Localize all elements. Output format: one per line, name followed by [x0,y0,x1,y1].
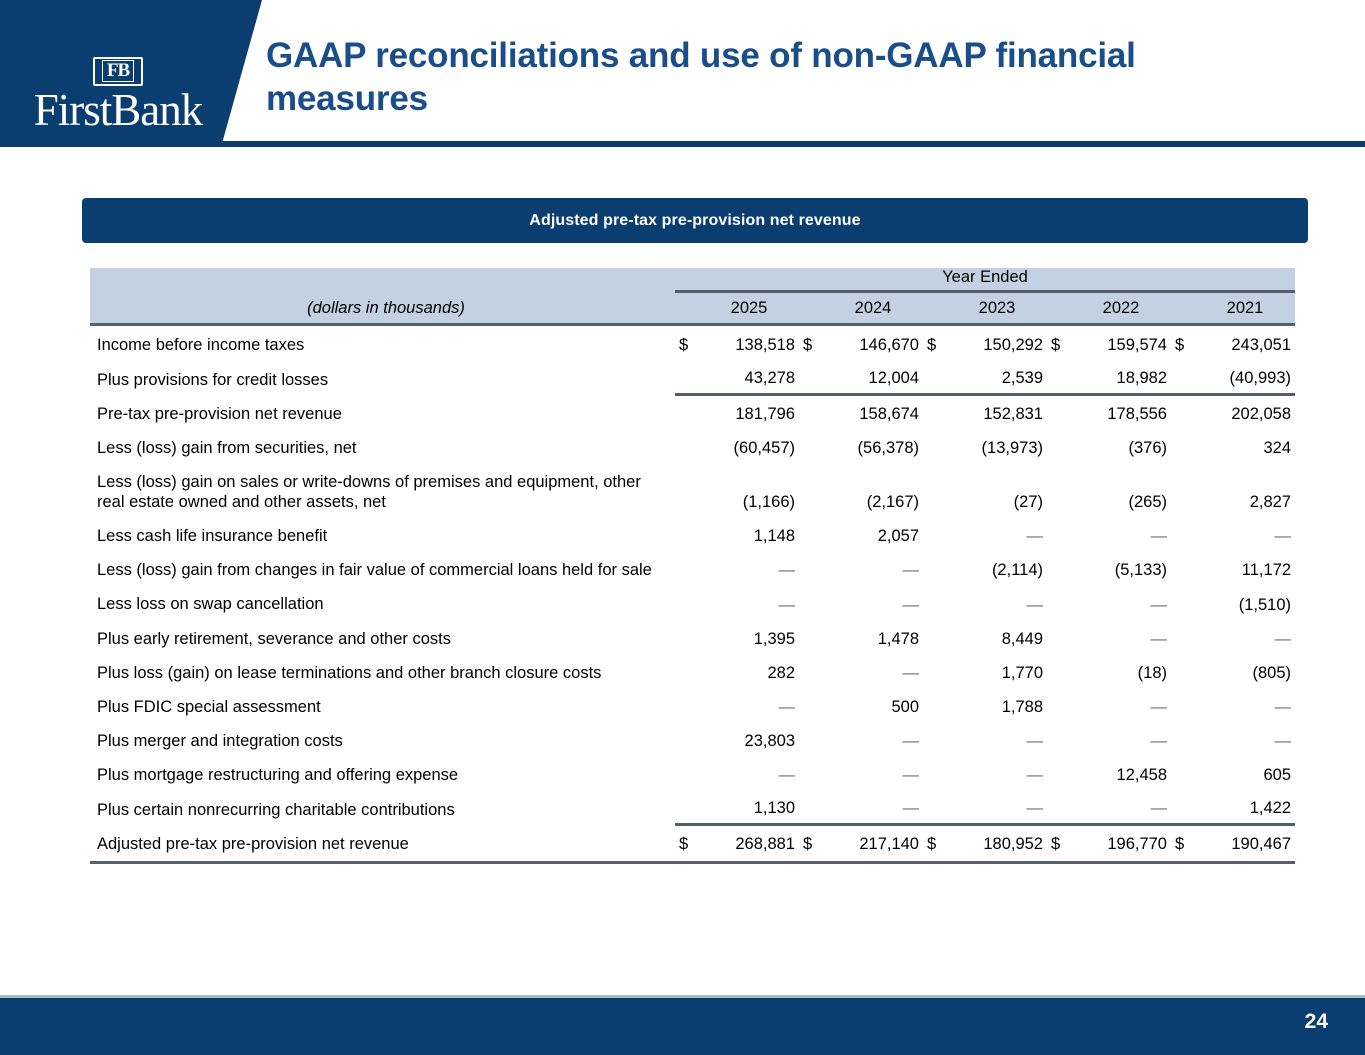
cell-value-2024: 217,140 [823,825,923,863]
cell-value-2024: — [823,756,923,790]
currency-symbol-2021 [1171,790,1195,825]
currency-symbol-2023 [923,395,947,429]
currency-symbol-2025 [675,722,699,756]
currency-symbol-2022: $ [1047,325,1071,361]
cell-value-2022: 12,458 [1071,756,1171,790]
currency-symbol-2024: $ [799,825,823,863]
currency-symbol-2024 [799,517,823,551]
group-header-year-ended: Year Ended [675,268,1295,292]
table-row: Less cash life insurance benefit1,1482,0… [90,517,1295,551]
cell-value-2024: 500 [823,688,923,722]
reconciliation-table: Year Ended (dollars in thousands) 2025 2… [90,268,1295,864]
cell-value-2022: 18,982 [1071,360,1171,395]
currency-symbol-2022 [1047,654,1071,688]
row-label: Less (loss) gain on sales or write-downs… [90,463,675,517]
cell-value-2021: 1,422 [1195,790,1295,825]
currency-symbol-2024 [799,654,823,688]
section-banner-label: Adjusted pre-tax pre-provision net reven… [529,212,860,230]
currency-symbol-2021 [1171,688,1195,722]
table-row: Less (loss) gain on sales or write-downs… [90,463,1295,517]
table-row: Less (loss) gain from changes in fair va… [90,551,1295,585]
currency-symbol-2021 [1171,395,1195,429]
currency-col-spacer-2025 [675,292,699,325]
slide-header: FB FirstBank GAAP reconciliations and us… [0,0,1365,141]
cell-value-2023: 180,952 [947,825,1047,863]
cell-value-2023: 1,770 [947,654,1047,688]
row-label: Plus provisions for credit losses [90,360,675,395]
currency-symbol-2023 [923,517,947,551]
cell-value-2025: 23,803 [699,722,799,756]
row-label: Plus certain nonrecurring charitable con… [90,790,675,825]
row-label: Less (loss) gain from changes in fair va… [90,551,675,585]
cell-value-2022: — [1071,688,1171,722]
currency-symbol-2024 [799,429,823,463]
currency-symbol-2025 [675,790,699,825]
column-header-2025: 2025 [699,292,799,325]
cell-value-2022: — [1071,517,1171,551]
cell-value-2023: 2,539 [947,360,1047,395]
cell-value-2025: 181,796 [699,395,799,429]
currency-symbol-2025 [675,429,699,463]
cell-value-2022: — [1071,722,1171,756]
currency-symbol-2025 [675,688,699,722]
cell-value-2022: 196,770 [1071,825,1171,863]
currency-symbol-2023 [923,429,947,463]
cell-value-2023: — [947,722,1047,756]
currency-symbol-2022 [1047,688,1071,722]
currency-symbol-2024 [799,756,823,790]
currency-symbol-2023 [923,756,947,790]
cell-value-2023: 8,449 [947,620,1047,654]
cell-value-2022: — [1071,790,1171,825]
table-row: Less loss on swap cancellation————(1,510… [90,585,1295,619]
cell-value-2021: 324 [1195,429,1295,463]
cell-value-2024: (2,167) [823,463,923,517]
currency-symbol-2024 [799,722,823,756]
currency-symbol-2022 [1047,429,1071,463]
currency-symbol-2024 [799,395,823,429]
units-note: (dollars in thousands) [90,292,675,325]
currency-symbol-2024 [799,790,823,825]
currency-symbol-2024 [799,620,823,654]
currency-col-spacer-2023 [923,292,947,325]
currency-symbol-2024: $ [799,325,823,361]
currency-col-spacer-2021 [1171,292,1195,325]
currency-symbol-2025: $ [675,825,699,863]
cell-value-2024: 158,674 [823,395,923,429]
currency-symbol-2021 [1171,756,1195,790]
currency-symbol-2023 [923,463,947,517]
currency-symbol-2023 [923,654,947,688]
currency-symbol-2022 [1047,360,1071,395]
currency-symbol-2022 [1047,395,1071,429]
cell-value-2023: 1,788 [947,688,1047,722]
table-body: Income before income taxes$138,518$146,6… [90,325,1295,863]
currency-symbol-2023 [923,585,947,619]
cell-value-2025: 1,130 [699,790,799,825]
currency-symbol-2021 [1171,722,1195,756]
cell-value-2022: (5,133) [1071,551,1171,585]
cell-value-2024: — [823,654,923,688]
cell-value-2025: 138,518 [699,325,799,361]
cell-value-2022: (265) [1071,463,1171,517]
cell-value-2024: — [823,790,923,825]
cell-value-2025: 43,278 [699,360,799,395]
cell-value-2025: 1,395 [699,620,799,654]
cell-value-2024: — [823,585,923,619]
currency-symbol-2024 [799,551,823,585]
cell-value-2023: — [947,585,1047,619]
table-row: Income before income taxes$138,518$146,6… [90,325,1295,361]
currency-symbol-2021 [1171,463,1195,517]
table-row: Plus certain nonrecurring charitable con… [90,790,1295,825]
cell-value-2021: 2,827 [1195,463,1295,517]
cell-value-2024: — [823,722,923,756]
currency-symbol-2021 [1171,360,1195,395]
cell-value-2021: 243,051 [1195,325,1295,361]
cell-value-2024: 146,670 [823,325,923,361]
currency-symbol-2021 [1171,585,1195,619]
currency-symbol-2021 [1171,517,1195,551]
currency-symbol-2022 [1047,551,1071,585]
currency-symbol-2024 [799,463,823,517]
currency-symbol-2022: $ [1047,825,1071,863]
firstbank-logo: FB FirstBank [22,57,214,133]
cell-value-2024: 2,057 [823,517,923,551]
table-row: Pre-tax pre-provision net revenue181,796… [90,395,1295,429]
cell-value-2021: 190,467 [1195,825,1295,863]
currency-col-spacer-2024 [799,292,823,325]
header-divider [0,141,1365,147]
row-label: Pre-tax pre-provision net revenue [90,395,675,429]
table-row: Plus loss (gain) on lease terminations a… [90,654,1295,688]
currency-symbol-2023 [923,551,947,585]
column-header-2022: 2022 [1071,292,1171,325]
cell-value-2022: 178,556 [1071,395,1171,429]
table-row: Plus provisions for credit losses43,2781… [90,360,1295,395]
currency-symbol-2025 [675,756,699,790]
currency-symbol-2025 [675,360,699,395]
currency-symbol-2025 [675,463,699,517]
cell-value-2023: (27) [947,463,1047,517]
currency-symbol-2023 [923,688,947,722]
currency-symbol-2024 [799,688,823,722]
cell-value-2021: (805) [1195,654,1295,688]
cell-value-2022: (376) [1071,429,1171,463]
cell-value-2024: 1,478 [823,620,923,654]
cell-value-2023: — [947,790,1047,825]
cell-value-2022: — [1071,620,1171,654]
cell-value-2025: (1,166) [699,463,799,517]
currency-symbol-2025 [675,395,699,429]
cell-value-2022: — [1071,585,1171,619]
table-row: Adjusted pre-tax pre-provision net reven… [90,825,1295,863]
reconciliation-table-container: Year Ended (dollars in thousands) 2025 2… [90,268,1295,864]
currency-symbol-2022 [1047,620,1071,654]
cell-value-2023: 150,292 [947,325,1047,361]
currency-symbol-2025 [675,551,699,585]
cell-value-2022: 159,574 [1071,325,1171,361]
currency-symbol-2025: $ [675,325,699,361]
currency-symbol-2023 [923,360,947,395]
cell-value-2025: — [699,551,799,585]
column-header-2023: 2023 [947,292,1047,325]
currency-symbol-2022 [1047,585,1071,619]
table-row: Plus early retirement, severance and oth… [90,620,1295,654]
row-label: Plus merger and integration costs [90,722,675,756]
cell-value-2021: — [1195,688,1295,722]
currency-symbol-2022 [1047,790,1071,825]
row-label: Less (loss) gain from securities, net [90,429,675,463]
page-number: 24 [1305,1010,1328,1034]
table-row: Plus merger and integration costs23,803—… [90,722,1295,756]
table-row: Less (loss) gain from securities, net(60… [90,429,1295,463]
currency-symbol-2023 [923,620,947,654]
currency-symbol-2021: $ [1171,825,1195,863]
row-label: Less cash life insurance benefit [90,517,675,551]
row-label: Plus FDIC special assessment [90,688,675,722]
currency-symbol-2021 [1171,551,1195,585]
currency-symbol-2023 [923,722,947,756]
currency-symbol-2025 [675,517,699,551]
row-label: Less loss on swap cancellation [90,585,675,619]
table-head: Year Ended (dollars in thousands) 2025 2… [90,268,1295,325]
cell-value-2025: (60,457) [699,429,799,463]
group-header-spacer [90,268,675,292]
currency-symbol-2021 [1171,620,1195,654]
row-label: Adjusted pre-tax pre-provision net reven… [90,825,675,863]
cell-value-2024: 12,004 [823,360,923,395]
cell-value-2023: — [947,517,1047,551]
cell-value-2025: — [699,688,799,722]
currency-symbol-2024 [799,360,823,395]
cell-value-2025: 268,881 [699,825,799,863]
cell-value-2021: (40,993) [1195,360,1295,395]
cell-value-2025: — [699,756,799,790]
cell-value-2024: (56,378) [823,429,923,463]
cell-value-2025: 1,148 [699,517,799,551]
column-header-2024: 2024 [823,292,923,325]
cell-value-2024: — [823,551,923,585]
group-header-row: Year Ended [90,268,1295,292]
table-row: Plus mortgage restructuring and offering… [90,756,1295,790]
row-label: Income before income taxes [90,325,675,361]
cell-value-2023: (2,114) [947,551,1047,585]
section-banner: Adjusted pre-tax pre-provision net reven… [82,198,1308,243]
currency-symbol-2021 [1171,654,1195,688]
currency-symbol-2025 [675,654,699,688]
cell-value-2022: (18) [1071,654,1171,688]
cell-value-2023: 152,831 [947,395,1047,429]
currency-symbol-2024 [799,585,823,619]
fb-monogram-label: FB [102,60,134,82]
row-label: Plus early retirement, severance and oth… [90,620,675,654]
column-header-row: (dollars in thousands) 2025 2024 2023 20… [90,292,1295,325]
column-header-2021: 2021 [1195,292,1295,325]
currency-symbol-2022 [1047,756,1071,790]
currency-symbol-2023: $ [923,825,947,863]
cell-value-2025: 282 [699,654,799,688]
fb-monogram-icon: FB [93,57,143,86]
cell-value-2021: (1,510) [1195,585,1295,619]
cell-value-2021: 605 [1195,756,1295,790]
cell-value-2023: (13,973) [947,429,1047,463]
logo-wordmark: FirstBank [22,88,214,133]
currency-col-spacer-2022 [1047,292,1071,325]
currency-symbol-2021 [1171,429,1195,463]
row-label: Plus loss (gain) on lease terminations a… [90,654,675,688]
cell-value-2023: — [947,756,1047,790]
currency-symbol-2025 [675,585,699,619]
slide-footer: 24 [0,998,1365,1055]
cell-value-2021: 11,172 [1195,551,1295,585]
cell-value-2025: — [699,585,799,619]
currency-symbol-2021: $ [1171,325,1195,361]
page-title: GAAP reconciliations and use of non-GAAP… [266,34,1266,121]
currency-symbol-2023 [923,790,947,825]
cell-value-2021: 202,058 [1195,395,1295,429]
currency-symbol-2022 [1047,517,1071,551]
cell-value-2021: — [1195,517,1295,551]
cell-value-2021: — [1195,722,1295,756]
row-label: Plus mortgage restructuring and offering… [90,756,675,790]
cell-value-2021: — [1195,620,1295,654]
table-row: Plus FDIC special assessment—5001,788—— [90,688,1295,722]
currency-symbol-2022 [1047,463,1071,517]
currency-symbol-2023: $ [923,325,947,361]
currency-symbol-2025 [675,620,699,654]
currency-symbol-2022 [1047,722,1071,756]
